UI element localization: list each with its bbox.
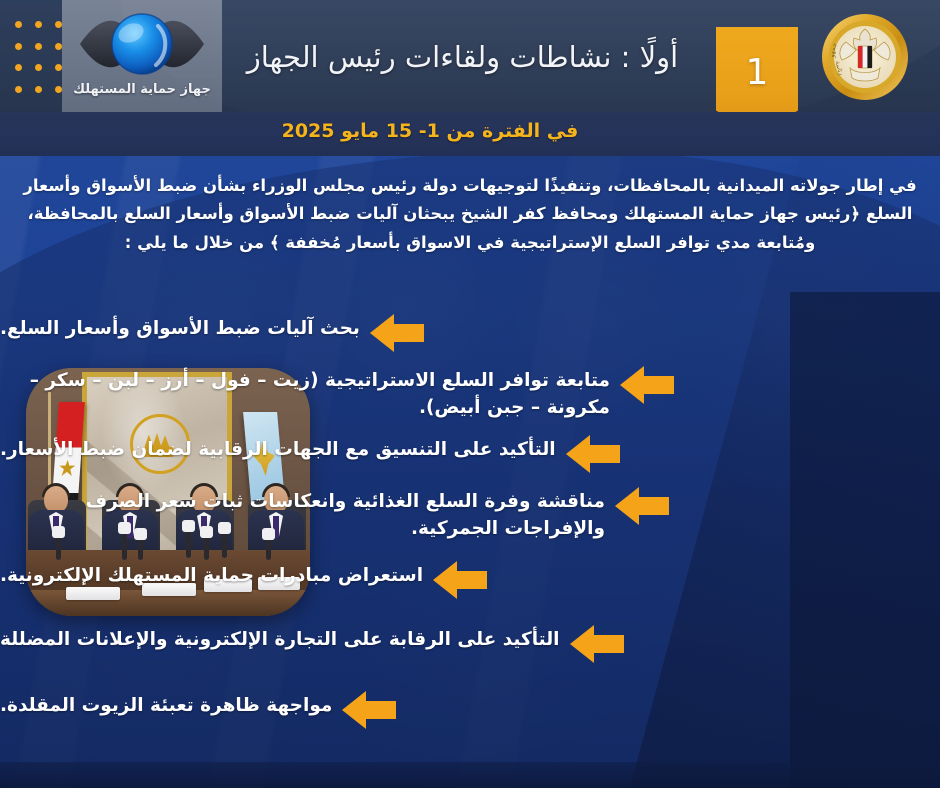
logo-caption: جهاز حماية المستهلك bbox=[62, 82, 222, 97]
date-range-subtitle: في الفترة من 1- 15 مايو 2025 bbox=[220, 120, 640, 142]
arrow-left-icon bbox=[570, 625, 624, 663]
egypt-eagle-emblem-icon: جمهورية مصر العربية رئاسة مجلس الوزراء bbox=[820, 12, 910, 102]
list-item[interactable]: استعراض مبادرات حماية المستهلك الإلكترون… bbox=[0, 561, 940, 599]
arrow-left-icon bbox=[620, 366, 674, 404]
arrow-left-icon bbox=[433, 561, 487, 599]
page-title: أولًا : نشاطات ولقاءات رئيس الجهاز bbox=[225, 40, 700, 74]
list-item[interactable]: التأكيد على التنسيق مع الجهات الرقابية ل… bbox=[0, 435, 940, 473]
list-item-label: التأكيد على التنسيق مع الجهات الرقابية ل… bbox=[0, 435, 556, 464]
orange-dots-grid bbox=[8, 14, 68, 100]
slide-root: جهاز حماية المستهلك أولًا : نشاطات ولقاء… bbox=[0, 0, 940, 788]
arrow-left-icon bbox=[342, 691, 396, 729]
intro-paragraph-text: في إطار جولاته الميدانية بالمحافظات، وتن… bbox=[10, 172, 930, 257]
list-item-label: متابعة توافر السلع الاستراتيجية (زيت – ف… bbox=[0, 366, 610, 421]
arrow-left-icon bbox=[615, 487, 669, 525]
list-item[interactable]: بحث آليات ضبط الأسواق وأسعار السلع. bbox=[0, 314, 940, 352]
list-item[interactable]: متابعة توافر السلع الاستراتيجية (زيت – ف… bbox=[0, 366, 940, 421]
list-item-label: استعراض مبادرات حماية المستهلك الإلكترون… bbox=[0, 561, 423, 590]
list-item-label: مناقشة وفرة السلع الغذائية وانعكاسات ثبا… bbox=[0, 487, 605, 542]
bullet-list: بحث آليات ضبط الأسواق وأسعار السلع. متاب… bbox=[0, 306, 940, 731]
intro-paragraph-block: في إطار جولاته الميدانية بالمحافظات، وتن… bbox=[10, 172, 930, 257]
background-bottom-strip bbox=[0, 762, 940, 788]
arrow-left-icon bbox=[370, 314, 424, 352]
list-item-label: بحث آليات ضبط الأسواق وأسعار السلع. bbox=[0, 314, 360, 343]
eye-logo-icon bbox=[78, 8, 206, 80]
list-item-label: مواجهة ظاهرة تعبئة الزيوت المقلدة. bbox=[0, 691, 332, 720]
list-item[interactable]: التأكيد على الرقابة على التجارة الإلكترو… bbox=[0, 625, 940, 663]
section-number-value: 1 bbox=[716, 55, 798, 91]
list-item[interactable]: مناقشة وفرة السلع الغذائية وانعكاسات ثبا… bbox=[0, 487, 940, 542]
arrow-left-icon bbox=[566, 435, 620, 473]
list-item[interactable]: مواجهة ظاهرة تعبئة الزيوت المقلدة. bbox=[0, 691, 940, 729]
list-item-label: التأكيد على الرقابة على التجارة الإلكترو… bbox=[0, 625, 560, 654]
